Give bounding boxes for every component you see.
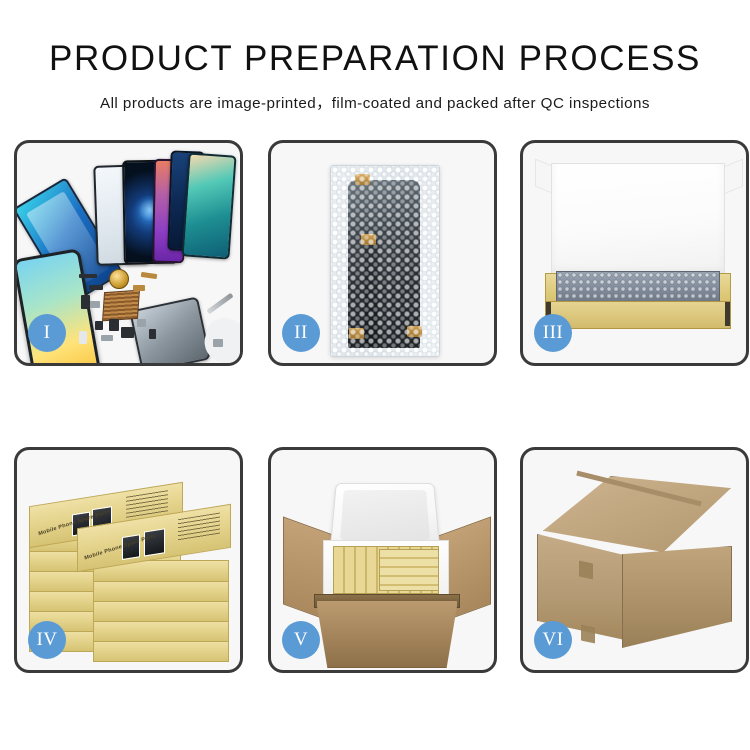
step-badge-5: V bbox=[282, 621, 320, 659]
part-bit bbox=[79, 274, 97, 278]
step-badge-6: VI bbox=[534, 621, 572, 659]
stacked-box bbox=[93, 580, 229, 602]
part-bit bbox=[95, 321, 103, 330]
part-bit bbox=[133, 285, 145, 291]
box-front-wall bbox=[545, 301, 731, 329]
carton-tab bbox=[581, 625, 595, 644]
part-bit bbox=[149, 329, 156, 339]
part-bit bbox=[121, 327, 134, 338]
tape-piece bbox=[407, 326, 422, 337]
phone-display-teal bbox=[181, 152, 236, 259]
foam-lid bbox=[330, 483, 440, 549]
tape-piece bbox=[349, 328, 364, 339]
part-bit bbox=[109, 319, 119, 331]
part-bit bbox=[89, 301, 100, 308]
coil-component-icon bbox=[109, 269, 129, 289]
foam-lid-inner bbox=[340, 490, 430, 540]
part-bit bbox=[101, 335, 113, 341]
part-bit bbox=[141, 272, 158, 279]
tape-piece bbox=[361, 234, 376, 245]
step-badge-3: III bbox=[534, 314, 572, 352]
box-corner-right bbox=[725, 302, 730, 326]
part-bit bbox=[79, 331, 87, 344]
spec-text-lines bbox=[178, 513, 220, 542]
screwdriver-icon bbox=[206, 293, 233, 315]
stacked-box bbox=[93, 620, 229, 642]
yellow-boxes-row bbox=[379, 549, 439, 591]
flex-cable bbox=[365, 238, 379, 346]
stacked-box bbox=[93, 600, 229, 622]
part-bit bbox=[89, 285, 103, 290]
process-step-grid: I II III bbox=[0, 0, 750, 750]
chip-board-icon bbox=[102, 290, 140, 322]
carton-tab bbox=[579, 561, 593, 580]
process-step-5[interactable]: V bbox=[268, 447, 497, 673]
wrapped-screen-part bbox=[348, 180, 420, 348]
process-step-3[interactable]: III bbox=[520, 140, 749, 366]
step-badge-1: I bbox=[28, 314, 66, 352]
stacked-box bbox=[93, 640, 229, 662]
process-step-4[interactable]: Mobile Phone Spare Parts Mobile Phone Sp… bbox=[14, 447, 243, 673]
part-bit bbox=[81, 295, 90, 309]
tape-piece bbox=[355, 174, 370, 185]
bubble-wrap-fill bbox=[556, 271, 720, 303]
carton-front-wall bbox=[316, 600, 458, 668]
process-step-6[interactable]: VI bbox=[520, 447, 749, 673]
bubble-wrap-bag bbox=[330, 165, 440, 357]
process-step-1[interactable]: I bbox=[14, 140, 243, 366]
process-step-2[interactable]: II bbox=[268, 140, 497, 366]
part-bit bbox=[213, 339, 223, 347]
box-lid-panel bbox=[551, 163, 725, 277]
step-badge-4: IV bbox=[28, 621, 66, 659]
carton-right-face bbox=[622, 546, 732, 648]
phone-back-housing bbox=[129, 296, 211, 363]
step-badge-2: II bbox=[282, 314, 320, 352]
part-bit bbox=[137, 319, 146, 327]
